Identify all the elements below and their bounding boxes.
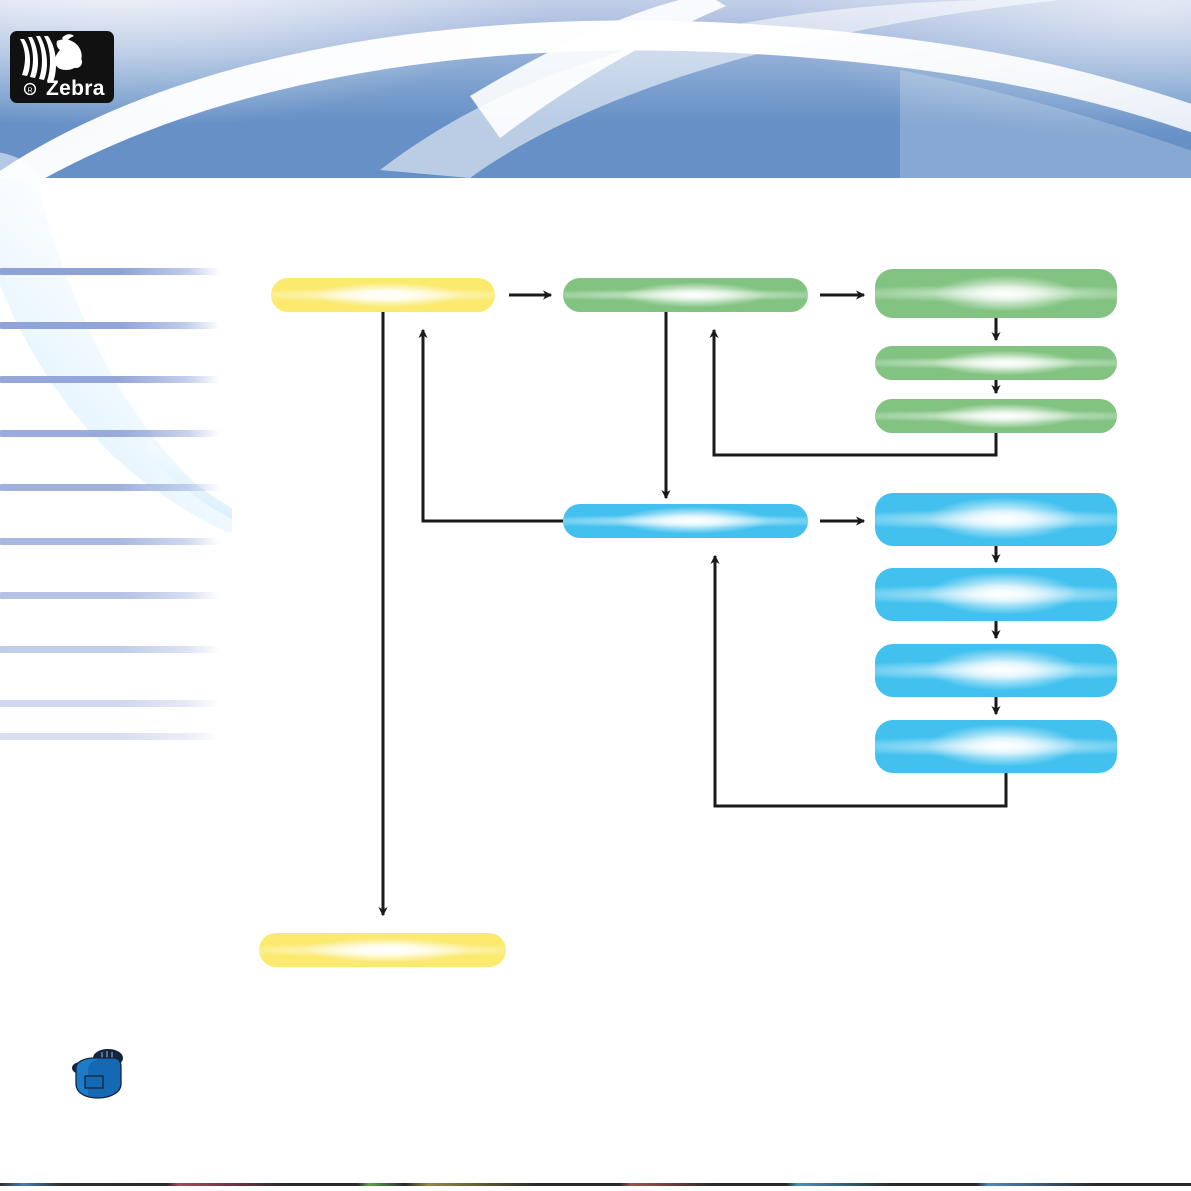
flow-node-n4[interactable] [875,346,1117,380]
flow-node-n7[interactable] [875,493,1117,546]
ruled-line [0,733,220,740]
flow-node-n9[interactable] [875,644,1117,697]
zebra-wordmark: Zebra [46,77,105,100]
flow-node-n6[interactable] [563,504,808,538]
page-bottom-edge-artifact [0,1183,1191,1186]
flow-node-label [875,399,1117,433]
header-band [0,0,1191,178]
zebra-logo: Zebra R [10,31,114,103]
flow-node-label [875,568,1117,621]
ruled-line [0,484,220,491]
header-wash [0,0,1191,178]
ruled-line [0,592,220,599]
flow-node-label [875,346,1117,380]
flow-node-label [563,504,808,538]
ruled-line [0,376,220,383]
ruled-line [0,646,220,653]
ruled-line [0,700,220,707]
flow-node-label [875,720,1117,773]
document-page: Zebra R [0,0,1191,1191]
flow-node-n10[interactable] [875,720,1117,773]
flow-node-n1[interactable] [271,278,495,312]
flow-node-n3[interactable] [875,269,1117,318]
ruled-line [0,268,220,275]
ruled-line [0,322,220,329]
flow-node-label [875,644,1117,697]
flow-node-label [271,278,495,312]
registered-mark: R [27,88,32,95]
ruled-line [0,430,220,437]
flow-node-label [563,278,808,312]
flow-node-n11[interactable] [259,933,506,967]
flow-node-n2[interactable] [563,278,808,312]
printer-ribbon-roll-icon [68,1044,126,1106]
flow-node-label [875,493,1117,546]
flow-node-label [875,269,1117,318]
flow-node-label [259,933,506,967]
flow-node-n8[interactable] [875,568,1117,621]
ruled-line [0,538,220,545]
flow-node-n5[interactable] [875,399,1117,433]
